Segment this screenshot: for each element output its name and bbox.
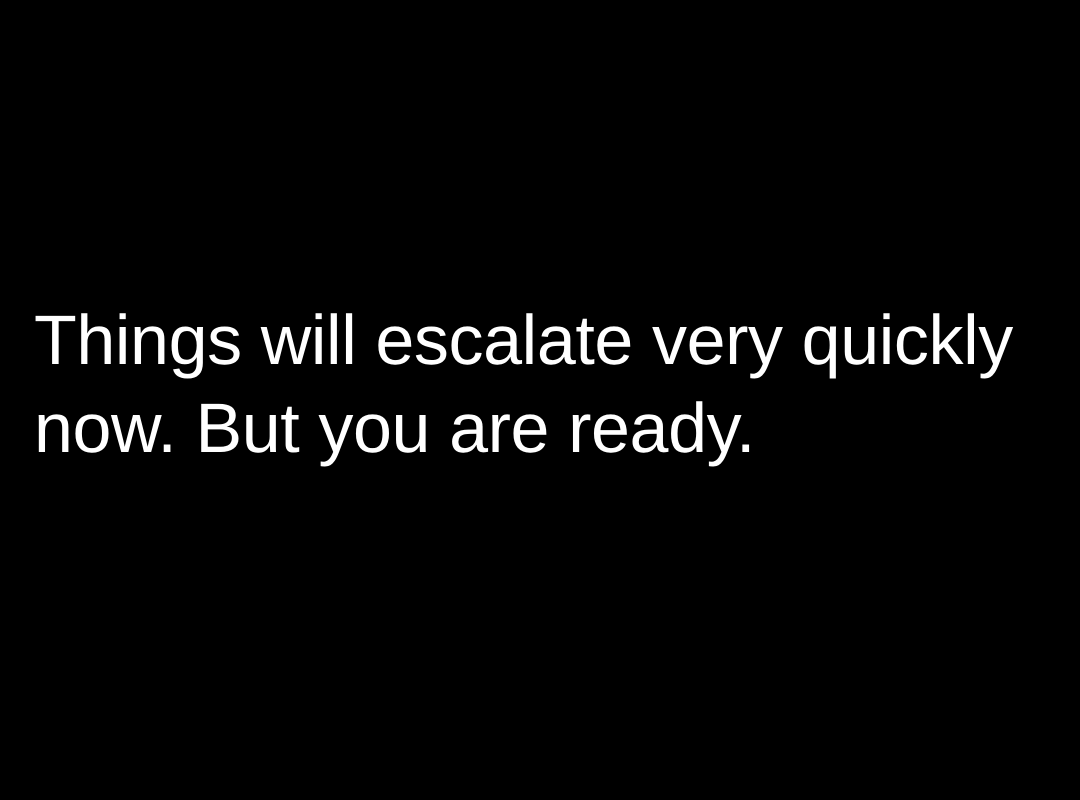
quote-line-2: now. But you are ready. (34, 384, 994, 472)
quote-text-block: Things will escalate very quickly now. B… (34, 296, 994, 472)
quote-line-1: Things will escalate very quickly (34, 296, 994, 384)
quote-card: Things will escalate very quickly now. B… (0, 0, 1080, 800)
